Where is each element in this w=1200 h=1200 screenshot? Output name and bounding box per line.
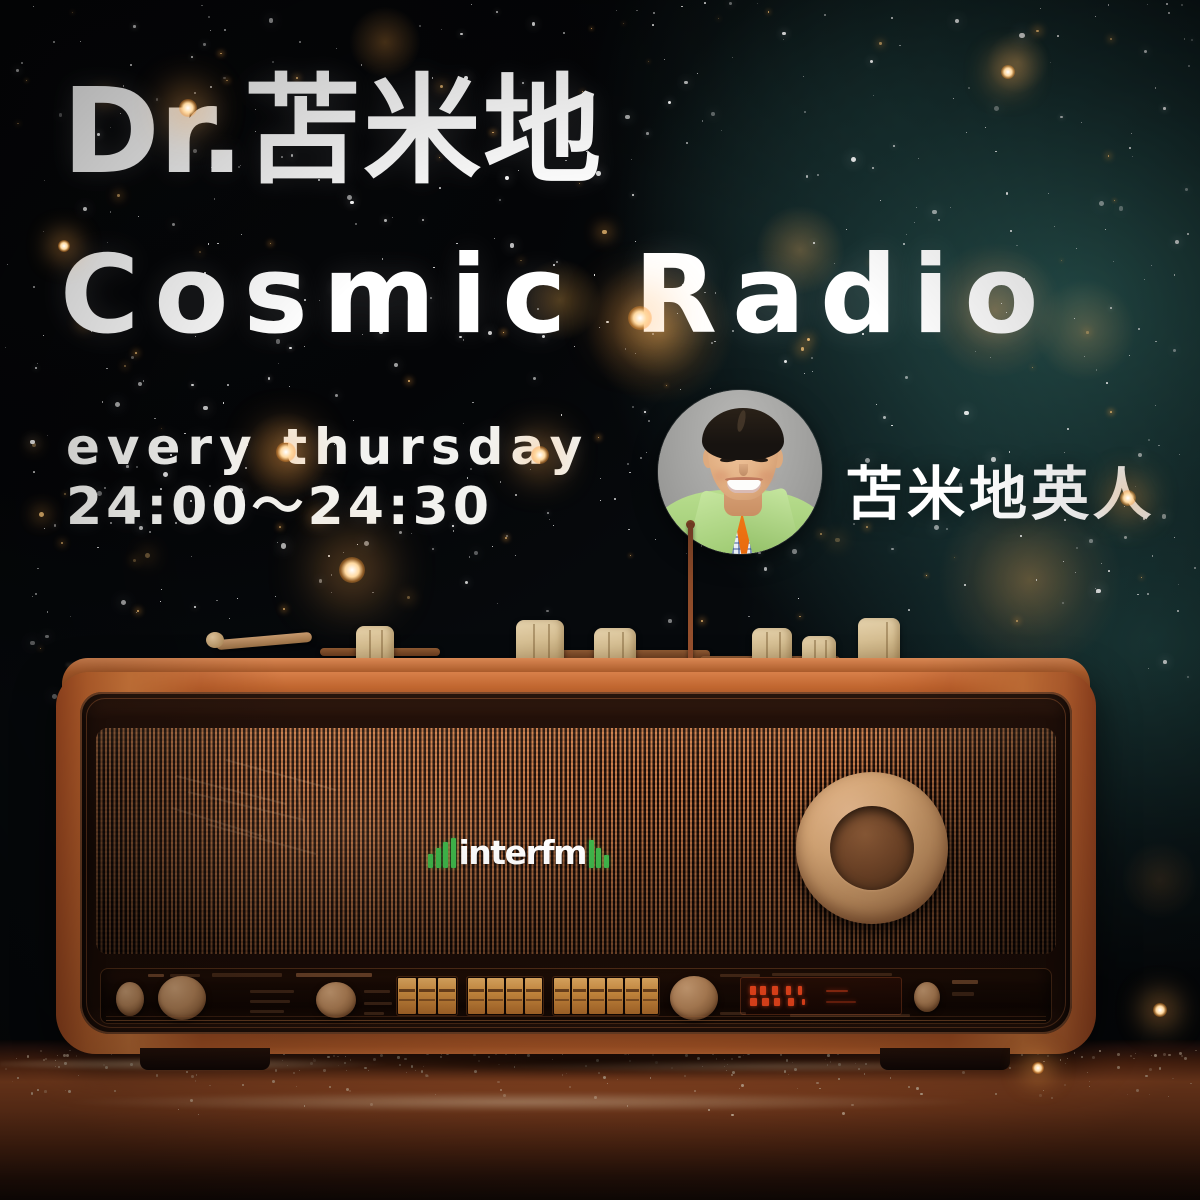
- dust-speck: [12, 1081, 13, 1082]
- dust-speck: [500, 1089, 502, 1091]
- large-tuning-knob[interactable]: [796, 772, 948, 924]
- panel-knob-1[interactable]: [116, 982, 144, 1016]
- dust-speck: [1181, 1055, 1183, 1057]
- dial-window-1: [396, 976, 458, 1016]
- dust-speck: [1159, 1067, 1161, 1069]
- panel-knob-4-tuning[interactable]: [670, 976, 718, 1020]
- dust-speck: [370, 1103, 373, 1106]
- dust-speck: [1172, 1078, 1173, 1079]
- program-title-latin: Dr.: [62, 62, 243, 200]
- dust-speck: [329, 1086, 331, 1088]
- radio-foot-right: [880, 1048, 1010, 1070]
- dust-speck: [190, 1099, 193, 1102]
- panel-knob-5[interactable]: [914, 982, 940, 1012]
- dust-speck: [1039, 1094, 1042, 1097]
- dust-speck: [851, 1104, 854, 1107]
- dust-speck: [1154, 1054, 1157, 1057]
- dust-speck: [1195, 1050, 1196, 1051]
- dust-speck: [1163, 1053, 1166, 1056]
- table-highlight-band-2: [0, 1086, 1200, 1120]
- dust-speck: [1117, 1053, 1120, 1056]
- dust-speck: [44, 1090, 47, 1093]
- dial-window-2: [466, 976, 544, 1016]
- dust-speck: [5, 1068, 7, 1070]
- knob-inner-cap: [830, 806, 914, 890]
- logo-bars-left-icon: [428, 838, 456, 868]
- dust-speck: [27, 1055, 30, 1058]
- schedule-day: every thursday: [66, 418, 589, 477]
- program-title-line2: Cosmic Radio: [60, 242, 1053, 350]
- smiling-mouth: [727, 480, 761, 493]
- interfm-wordmark: interfm: [459, 838, 586, 868]
- dust-speck: [16, 1058, 17, 1059]
- program-title-line1: Dr.苫米地: [62, 72, 603, 190]
- program-title-japanese: 苫米地: [243, 62, 603, 200]
- logo-bars-right-icon: [589, 838, 609, 868]
- dust-speck: [1149, 1094, 1150, 1095]
- radio-program-poster: Dr.苫米地 Cosmic Radio every thursday 24:00…: [0, 0, 1200, 1200]
- nose: [739, 464, 748, 476]
- dust-speck: [920, 1093, 923, 1096]
- dust-speck: [995, 1093, 997, 1095]
- top-lever-knob-icon: [206, 632, 224, 648]
- dust-speck: [37, 1089, 39, 1091]
- dust-speck: [1149, 1068, 1152, 1071]
- dust-speck: [209, 1085, 210, 1086]
- dust-speck: [741, 1084, 744, 1087]
- dust-speck: [435, 1094, 436, 1095]
- dust-speck: [1145, 1075, 1147, 1077]
- host-name: 苫米地英人: [845, 447, 1155, 531]
- digital-display: [740, 977, 902, 1015]
- dust-speck: [17, 1077, 19, 1079]
- dust-speck: [1117, 1066, 1120, 1069]
- panel-knob-3-tone[interactable]: [316, 982, 356, 1018]
- control-panel: [100, 968, 1052, 1024]
- dust-speck: [708, 1109, 710, 1111]
- radio-foot-left: [140, 1048, 270, 1070]
- dust-speck: [1135, 1053, 1136, 1054]
- dust-speck: [1089, 1086, 1090, 1087]
- schedule-block: every thursday 24:00〜24:30: [66, 418, 589, 538]
- dial-window-3: [552, 976, 660, 1016]
- host-portrait-avatar: [658, 390, 822, 554]
- dust-speck: [114, 1090, 116, 1092]
- dust-speck: [607, 1083, 608, 1084]
- schedule-time: 24:00〜24:30: [66, 477, 589, 538]
- dust-speck: [503, 1094, 506, 1097]
- dust-speck: [65, 1090, 66, 1091]
- panel-knob-2-volume[interactable]: [158, 976, 206, 1020]
- interfm-logo: interfm: [428, 828, 609, 868]
- dust-speck: [40, 1050, 42, 1052]
- dust-speck: [694, 1090, 696, 1092]
- dust-speck: [816, 1082, 819, 1085]
